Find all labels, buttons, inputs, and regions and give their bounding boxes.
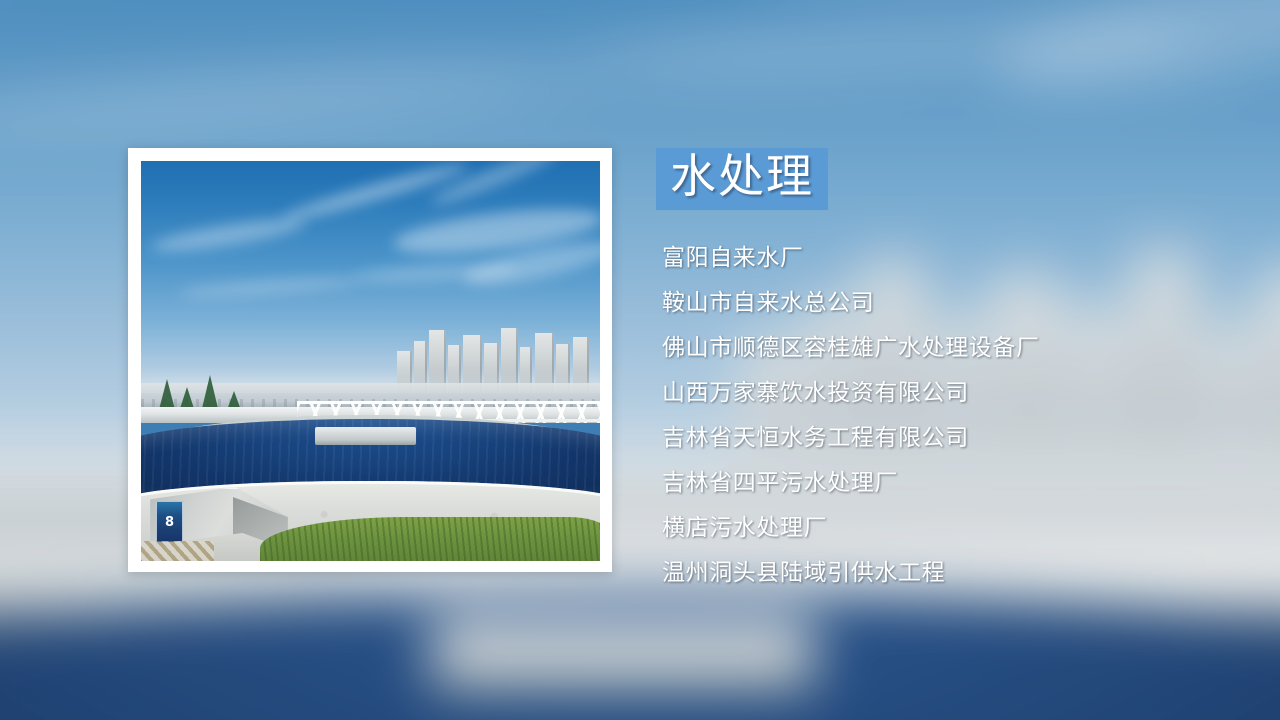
list-item: 山西万家寨饮水投资有限公司 — [662, 371, 1256, 416]
photo-blue-sign: 8 — [156, 501, 184, 543]
photo-pavers — [141, 541, 214, 561]
photo-grass — [260, 517, 600, 561]
list-item: 吉林省四平污水处理厂 — [662, 461, 1256, 506]
photo-pier — [315, 427, 416, 445]
company-list: 富阳自来水厂 鞍山市自来水总公司 佛山市顺德区容桂雄广水处理设备厂 山西万家寨饮… — [662, 236, 1256, 596]
plant-photo: 8 — [141, 161, 600, 561]
page-title: 水处理 — [670, 153, 814, 201]
text-column: 水处理 富阳自来水厂 鞍山市自来水总公司 佛山市顺德区容桂雄广水处理设备厂 山西… — [656, 148, 1256, 596]
list-item: 鞍山市自来水总公司 — [662, 281, 1256, 326]
list-item: 温州洞头县陆域引供水工程 — [662, 551, 1256, 596]
title-badge: 水处理 — [656, 148, 828, 210]
photo-sign-number: 8 — [165, 516, 174, 529]
list-item: 吉林省天恒水务工程有限公司 — [662, 416, 1256, 461]
photo-scene: 8 — [141, 161, 600, 561]
slide-canvas: 8 — [0, 0, 1280, 720]
photo-frame: 8 — [128, 148, 612, 572]
list-item: 富阳自来水厂 — [662, 236, 1256, 281]
list-item: 佛山市顺德区容桂雄广水处理设备厂 — [662, 326, 1256, 371]
list-item: 横店污水处理厂 — [662, 506, 1256, 551]
